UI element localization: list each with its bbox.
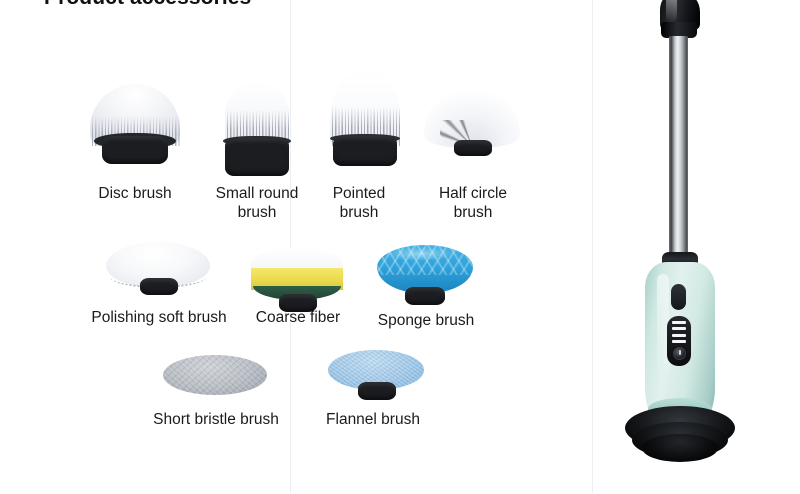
sponge-brush-pad xyxy=(377,245,473,293)
battery-bar xyxy=(672,334,686,337)
pointed-brush-art xyxy=(324,70,406,168)
accessory-label-polishing-soft-brush: Polishing soft brush xyxy=(74,308,244,327)
battery-bar xyxy=(672,340,686,343)
accessory-polishing-soft-brush[interactable] xyxy=(106,242,212,300)
accessory-coarse-fiber[interactable] xyxy=(251,248,345,314)
accessory-label-half-circle-brush: Half circle brush xyxy=(415,184,531,222)
flannel-brush-base xyxy=(358,382,396,400)
polishing-soft-brush-base xyxy=(140,278,178,295)
device-extension-pole xyxy=(669,36,688,258)
accessory-label-small-round-brush: Small round brush xyxy=(196,184,318,222)
accessory-label-coarse-fiber: Coarse fiber xyxy=(244,308,352,327)
half-circle-brush-art xyxy=(424,84,522,164)
sponge-brush-base xyxy=(405,287,445,305)
accessory-flannel-brush[interactable] xyxy=(328,350,426,402)
accessory-disc-brush[interactable] xyxy=(84,78,186,168)
battery-indicator xyxy=(672,321,686,343)
accessory-sponge-brush[interactable] xyxy=(377,245,475,307)
electric-spin-scrubber[interactable] xyxy=(612,0,800,494)
accessory-small-round-brush[interactable] xyxy=(217,80,297,178)
accessory-label-pointed-brush: Pointed brush xyxy=(306,184,412,222)
device-grip-highlight xyxy=(666,0,677,22)
disc-brush-base xyxy=(102,136,168,164)
accessory-half-circle-brush[interactable] xyxy=(424,84,522,164)
small-round-brush-art xyxy=(217,80,297,178)
coarse-fiber-art xyxy=(251,248,345,314)
disc-brush-art xyxy=(84,78,186,168)
polishing-soft-brush-art xyxy=(106,242,212,300)
short-bristle-brush-pad xyxy=(163,355,267,395)
accessory-label-sponge-brush: Sponge brush xyxy=(366,311,486,330)
device-release-slot[interactable] xyxy=(671,284,686,310)
accessory-label-flannel-brush: Flannel brush xyxy=(310,410,436,429)
flannel-brush-art xyxy=(328,350,426,402)
accessory-pointed-brush[interactable] xyxy=(324,70,406,168)
product-accessories-image: Product accessories Disc brush Small rou… xyxy=(0,0,800,493)
page-title: Product accessories xyxy=(44,0,251,10)
device-brush-mount-ring-3 xyxy=(642,434,718,462)
accessory-short-bristle-brush[interactable] xyxy=(163,355,269,399)
half-circle-brush-base xyxy=(454,140,492,156)
small-round-brush-base xyxy=(225,138,289,176)
pointed-brush-base xyxy=(333,136,397,166)
battery-bar xyxy=(672,321,686,324)
power-icon[interactable] xyxy=(673,347,686,360)
short-bristle-brush-art xyxy=(163,355,269,399)
accessory-label-disc-brush: Disc brush xyxy=(75,184,195,203)
sponge-brush-art xyxy=(377,245,475,307)
battery-bar xyxy=(672,327,686,330)
accessory-label-short-bristle-brush: Short bristle brush xyxy=(138,410,294,429)
photo-seam-right xyxy=(592,0,593,493)
